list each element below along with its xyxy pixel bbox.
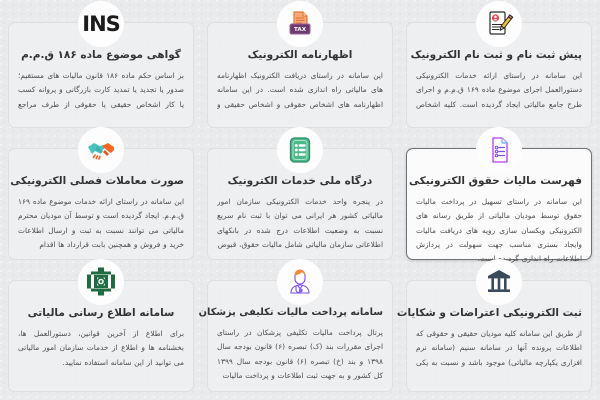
card-title: فهرست مالیات حقوق الکترونیکی xyxy=(416,175,582,189)
ins-logo-icon: INS xyxy=(78,1,124,47)
service-card-electronic-objections[interactable]: ثبت الکترونیکی اعتراضات و شکایات از طریق… xyxy=(406,280,592,392)
tax-org-emblem-icon xyxy=(78,259,124,305)
card-description: بر اساس حکم ماده ۱۸۶ قانون مالیات های مس… xyxy=(18,69,184,113)
courthouse-icon xyxy=(476,259,522,305)
service-card-pre-registration[interactable]: پیش ثبت نام و ثبت نام الکترونیک این ساما… xyxy=(406,22,592,128)
card-description: این سامانه در راستای تسهیل در پرداخت مال… xyxy=(416,195,582,267)
card-title: ثبت الکترونیکی اعتراضات و شکایات xyxy=(416,307,582,321)
card-title: پیش ثبت نام و ثبت نام الکترونیک xyxy=(416,49,582,63)
ins-logo-text: INS xyxy=(82,14,120,35)
card-title: سامانه اطلاع رسانی مالیاتی xyxy=(18,307,184,321)
card-description: این سامانه در راستای ارائه خدمات موضوع م… xyxy=(18,195,184,253)
registration-form-icon xyxy=(476,1,522,47)
list-document-icon xyxy=(277,127,323,173)
doctor-icon xyxy=(277,259,323,305)
card-description: برای اطلاع از آخرین قوانین، دستورالعمل ه… xyxy=(18,327,184,370)
card-title: اظهارنامه الکترونیک xyxy=(217,49,383,63)
service-card-tax-information-system[interactable]: سامانه اطلاع رسانی مالیاتی برای اطلاع از… xyxy=(8,280,194,392)
checklist-icon xyxy=(476,127,522,173)
service-card-electronic-declaration[interactable]: TAX اظهارنامه الکترونیک این سامانه در را… xyxy=(207,22,393,128)
card-description: این سامانه در راستای ارائه خدمات الکترون… xyxy=(416,69,582,113)
card-description: در پنجره واحد خدمات الکترونیکی سازمان ام… xyxy=(217,195,383,253)
service-card-physicians-tax-payment[interactable]: سامانه پرداخت مالیات تکلیفی پزشکان پرتال… xyxy=(207,280,393,392)
card-description: این سامانه در راستای دریافت الکترونیک اظ… xyxy=(217,69,383,113)
svg-text:TAX: TAX xyxy=(294,27,307,33)
service-card-seasonal-transactions[interactable]: صورت معاملات فصلی الکترونیکی این سامانه … xyxy=(8,148,194,260)
services-grid: INS گواهی موضوع ماده ۱۸۶ ق.م.م بر اساس ح… xyxy=(0,0,600,400)
handshake-icon xyxy=(78,127,124,173)
card-title: صورت معاملات فصلی الکترونیکی xyxy=(18,175,184,189)
card-title: درگاه ملی خدمات الکترونیک xyxy=(217,175,383,189)
card-title: سامانه پرداخت مالیات تکلیفی پزشکان xyxy=(217,307,383,320)
card-title: گواهی موضوع ماده ۱۸۶ ق.م.م xyxy=(18,49,184,63)
card-description: پرتال پرداخت مالیات تکلیفی پزشکان در راس… xyxy=(217,326,383,384)
tax-document-icon: TAX xyxy=(277,1,323,47)
service-card-national-services-gateway[interactable]: درگاه ملی خدمات الکترونیک در پنجره واحد … xyxy=(207,148,393,260)
service-card-certificate-186[interactable]: INS گواهی موضوع ماده ۱۸۶ ق.م.م بر اساس ح… xyxy=(8,22,194,128)
card-description: از طریق این سامانه کلیه مودیان حقیقی و ح… xyxy=(416,327,582,371)
service-card-payroll-tax-list[interactable]: فهرست مالیات حقوق الکترونیکی این سامانه … xyxy=(406,148,592,260)
